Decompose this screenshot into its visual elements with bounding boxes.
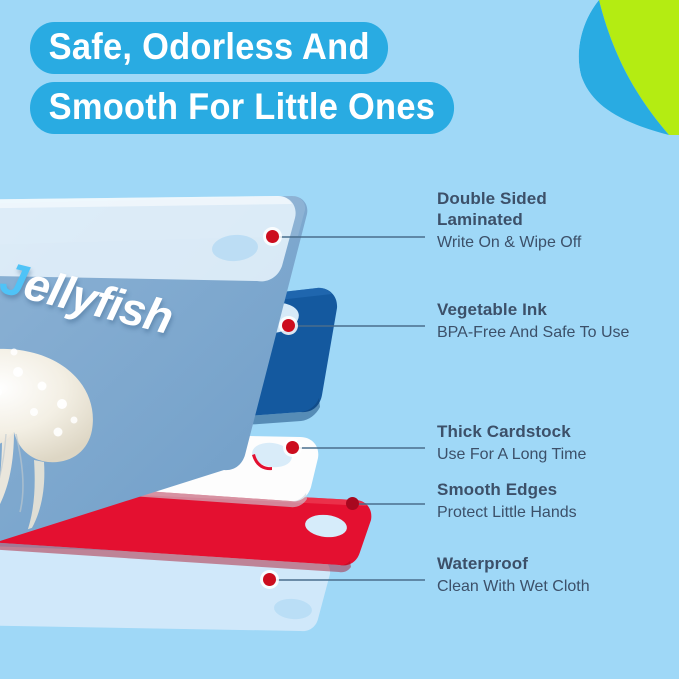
leader-line-thick-cardstock <box>297 447 425 449</box>
callout-title-waterproof: Waterproof <box>437 553 590 574</box>
callout-waterproof: Waterproof Clean With Wet Cloth <box>437 553 590 597</box>
callout-group: Double Sided Laminated Write On & Wipe O… <box>0 0 679 679</box>
callout-double-sided-laminated: Double Sided Laminated Write On & Wipe O… <box>437 188 581 253</box>
callout-dot-waterproof <box>263 573 276 586</box>
callout-title-vegetable-ink: Vegetable Ink <box>437 299 629 320</box>
callout-desc-thick-cardstock: Use For A Long Time <box>437 444 586 465</box>
callout-vegetable-ink: Vegetable Ink BPA-Free And Safe To Use <box>437 299 629 343</box>
callout-dot-vegetable-ink <box>282 319 295 332</box>
callout-thick-cardstock: Thick Cardstock Use For A Long Time <box>437 421 586 465</box>
callout-desc-waterproof: Clean With Wet Cloth <box>437 576 590 597</box>
leader-line-vegetable-ink <box>293 325 425 327</box>
callout-title-smooth-edges: Smooth Edges <box>437 479 577 500</box>
callout-dot-thick-cardstock <box>286 441 299 454</box>
leader-line-smooth-edges <box>357 503 425 505</box>
callout-desc-vegetable-ink: BPA-Free And Safe To Use <box>437 322 629 343</box>
callout-dot-double-sided-laminated <box>266 230 279 243</box>
callout-title2-double-sided-laminated: Laminated <box>437 209 581 230</box>
product-infographic: Safe, Odorless And Smooth For Little One… <box>0 0 679 679</box>
callout-desc-double-sided-laminated: Write On & Wipe Off <box>437 232 581 253</box>
callout-title-thick-cardstock: Thick Cardstock <box>437 421 586 442</box>
callout-dot-smooth-edges <box>346 497 359 510</box>
callout-title-double-sided-laminated: Double Sided <box>437 188 581 209</box>
callout-smooth-edges: Smooth Edges Protect Little Hands <box>437 479 577 523</box>
leader-line-waterproof <box>274 579 425 581</box>
leader-line-double-sided-laminated <box>277 236 425 238</box>
callout-desc-smooth-edges: Protect Little Hands <box>437 502 577 523</box>
